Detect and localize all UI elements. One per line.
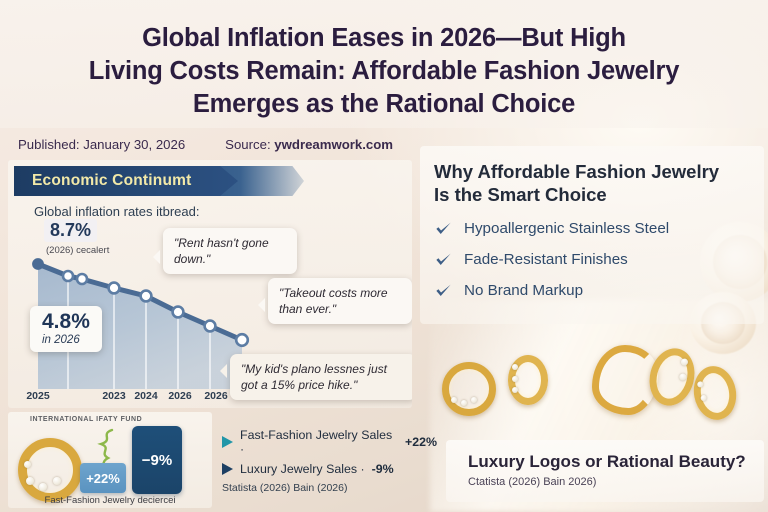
why-title-line-1: Why Affordable Fashion Jewelry [434, 160, 764, 183]
legend-row: Fast-Fashion Jewelry Sales · +22% [222, 428, 437, 456]
why-affordable-card: Why Affordable Fashion Jewelry Is the Sm… [420, 146, 764, 324]
legend-source: Statista (2026) Bain (2026) [222, 482, 437, 494]
why-title: Why Affordable Fashion Jewelry Is the Sm… [434, 160, 764, 206]
source-line: Source: ywdreamwork.com [225, 137, 393, 152]
quote-bubble-rent: "Rent hasn't gone down." [163, 228, 297, 274]
luxury-question-source: Ctatista (2026) Bain 2026) [468, 476, 764, 488]
economic-continuum-ribbon: Economic Continumt [14, 166, 304, 196]
x-tick-0: 2025 [26, 390, 49, 402]
imf-label: INTERNATIONAL IFATY FUND [30, 416, 142, 423]
meta-line: Published: January 30, 2026 Source: ywdr… [18, 137, 393, 152]
why-bullet-label: No Brand Markup [464, 282, 583, 299]
triangle-marker-icon [222, 463, 233, 475]
why-bullet-label: Fade-Resistant Finishes [464, 251, 628, 268]
x-tick-1: 2023 [102, 390, 125, 402]
title-line-3: Emerges as the Rational Choice [40, 88, 728, 121]
x-tick-3: 2026 [168, 390, 191, 402]
x-tick-2: 2024 [134, 390, 157, 402]
why-bullet-list: Hypoallergenic Stainless Steel Fade-Resi… [434, 219, 764, 300]
bar-luxury: −9% [132, 426, 182, 494]
quote-bubble-piano: "My kid's plano lessnes just got a 15% p… [230, 354, 412, 400]
legend-label: Luxury Jewelry Sales · [240, 462, 365, 476]
why-bullet-label: Hypoallergenic Stainless Steel [464, 220, 669, 237]
legend-value: +22% [405, 435, 437, 449]
why-bullet-item: Hypoallergenic Stainless Steel [434, 219, 764, 238]
legend-label: Fast-Fashion Jewelry Sales · [240, 428, 398, 456]
legend-row: Luxury Jewelry Sales · -9% [222, 462, 437, 476]
inflation-chart-card: Economic Continumt Global inflation rate… [8, 160, 412, 408]
sales-legend: Fast-Fashion Jewelry Sales · +22% Luxury… [222, 428, 437, 494]
title-line-2: Living Costs Remain: Affordable Fashion … [40, 55, 728, 88]
source-label: Source: [225, 137, 274, 152]
infographic-root: Global Inflation Eases in 2026—But High … [0, 0, 768, 512]
callout-current-rate: 4.8% in 2026 [30, 306, 102, 352]
chart-subtitle: Global inflation rates itbread: [34, 204, 199, 219]
quote-bubble-takeout: "Takeout costs more than ever." [268, 278, 412, 324]
why-bullet-item: No Brand Markup [434, 281, 764, 300]
why-bullet-item: Fade-Resistant Finishes [434, 250, 764, 269]
check-icon [434, 281, 453, 300]
bar-luxury-value: −9% [142, 452, 172, 469]
luxury-question-title: Luxury Logos or Rational Beauty? [468, 452, 764, 472]
stat-high: 8.7% (2026) cecalert [44, 219, 109, 256]
gold-ring-photo-icon [18, 438, 82, 502]
page-title: Global Inflation Eases in 2026—But High … [40, 22, 728, 121]
bar-fast-fashion: +22% [80, 463, 126, 493]
ribbon-label: Economic Continumt [32, 172, 191, 190]
why-title-line-2: Is the Smart Choice [434, 183, 764, 206]
check-icon [434, 250, 453, 269]
title-line-1: Global Inflation Eases in 2026—But High [40, 22, 728, 55]
earring-jewelry-icon [508, 355, 548, 405]
sales-bar-card: INTERNATIONAL IFATY FUND +22% −9% Fast-F… [8, 412, 212, 508]
x-tick-4: 2026 [204, 390, 227, 402]
callout-value: 4.8% [42, 311, 90, 332]
source-value: ywdreamwork.com [274, 137, 393, 152]
stat-high-value: 8.7% [44, 219, 97, 242]
luxury-question-card: Luxury Logos or Rational Beauty? Ctatist… [446, 440, 764, 502]
callout-caption: in 2026 [42, 334, 90, 346]
stat-high-caption: (2026) cecalert [46, 245, 109, 256]
legend-value: -9% [372, 462, 394, 476]
bar-fast-fashion-value: +22% [86, 471, 120, 486]
published-date: Published: January 30, 2026 [18, 137, 185, 152]
triangle-marker-icon [222, 436, 233, 448]
x-axis-tick-labels: 2025 2023 2024 2026 2026 [32, 390, 262, 404]
ring-jewelry-icon [442, 362, 496, 416]
bar-caption: Fast-Fashion Jewelry deciercei [8, 495, 212, 506]
check-icon [434, 219, 453, 238]
